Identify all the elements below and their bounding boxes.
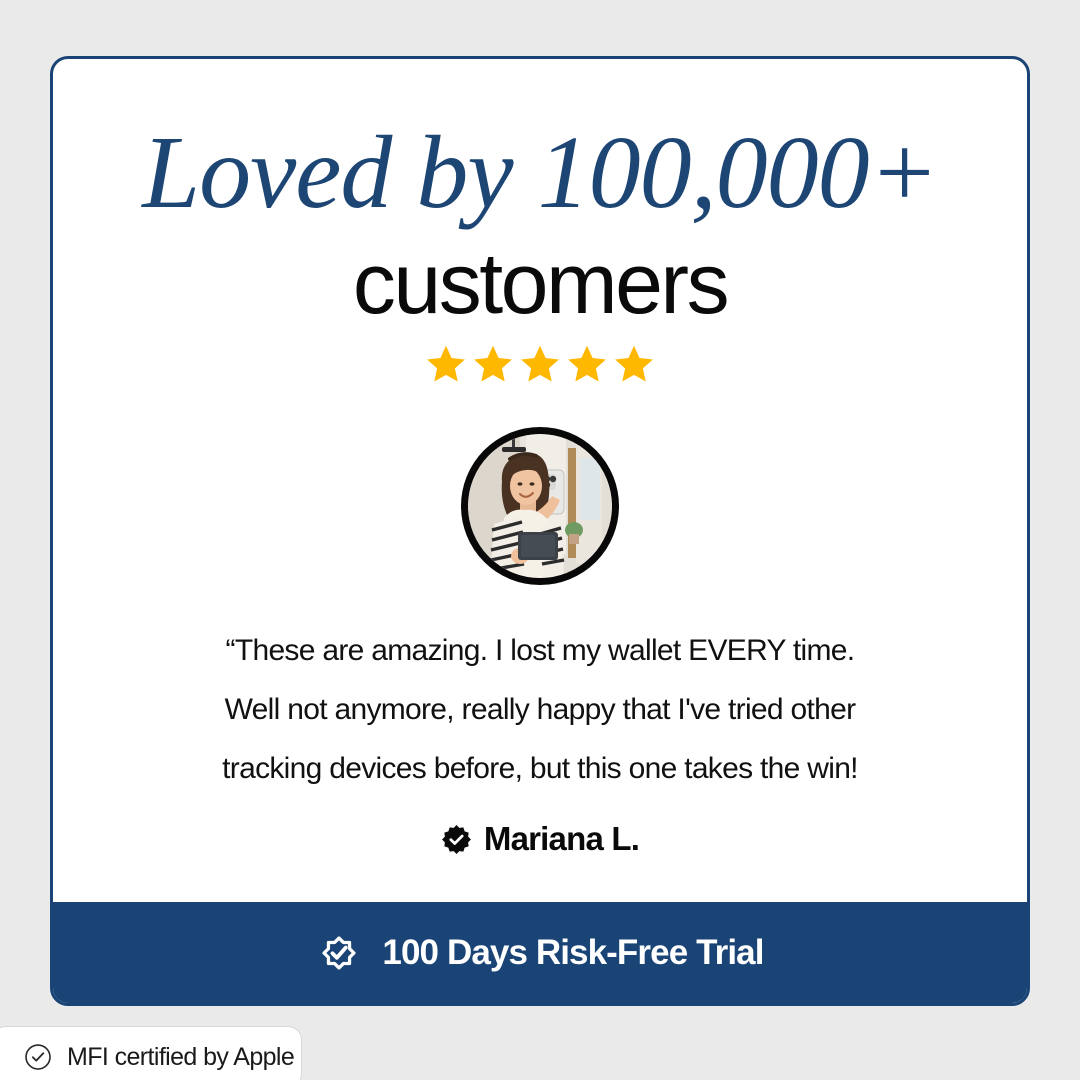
reviewer-name: Mariana L. <box>484 820 639 858</box>
avatar-photo <box>468 434 612 578</box>
review-quote: “These are amazing. I lost my wallet EVE… <box>140 621 940 798</box>
mfi-certified-label: MFI certified by Apple <box>67 1043 294 1072</box>
verified-badge-icon <box>441 824 472 855</box>
trial-banner-label: 100 Days Risk-Free Trial <box>382 933 763 973</box>
star-rating <box>424 343 656 385</box>
avatar-photo-illustration <box>468 434 612 578</box>
star-icon <box>565 343 609 385</box>
mfi-certified-chip[interactable]: MFI certified by Apple <box>0 1026 302 1080</box>
review-quote-line: “These are amazing. I lost my wallet EVE… <box>140 621 940 680</box>
star-icon <box>518 343 562 385</box>
headline-script: Loved by 100,000+ <box>142 121 938 225</box>
review-quote-line: Well not anymore, really happy that I've… <box>140 680 940 739</box>
review-quote-line: tracking devices before, but this one ta… <box>140 739 940 798</box>
risk-free-badge-icon <box>316 930 362 976</box>
avatar <box>461 427 619 585</box>
star-icon <box>424 343 468 385</box>
star-icon <box>612 343 656 385</box>
star-icon <box>471 343 515 385</box>
review-card: Loved by 100,000+ customers <box>50 56 1030 1006</box>
trial-banner: 100 Days Risk-Free Trial <box>53 902 1027 1003</box>
review-card-body: Loved by 100,000+ customers <box>53 59 1027 902</box>
headline-plain: customers <box>353 241 727 327</box>
check-circle-icon <box>23 1042 53 1072</box>
reviewer: Mariana L. <box>441 820 639 858</box>
screenshot-root: Loved by 100,000+ customers <box>0 0 1080 1080</box>
